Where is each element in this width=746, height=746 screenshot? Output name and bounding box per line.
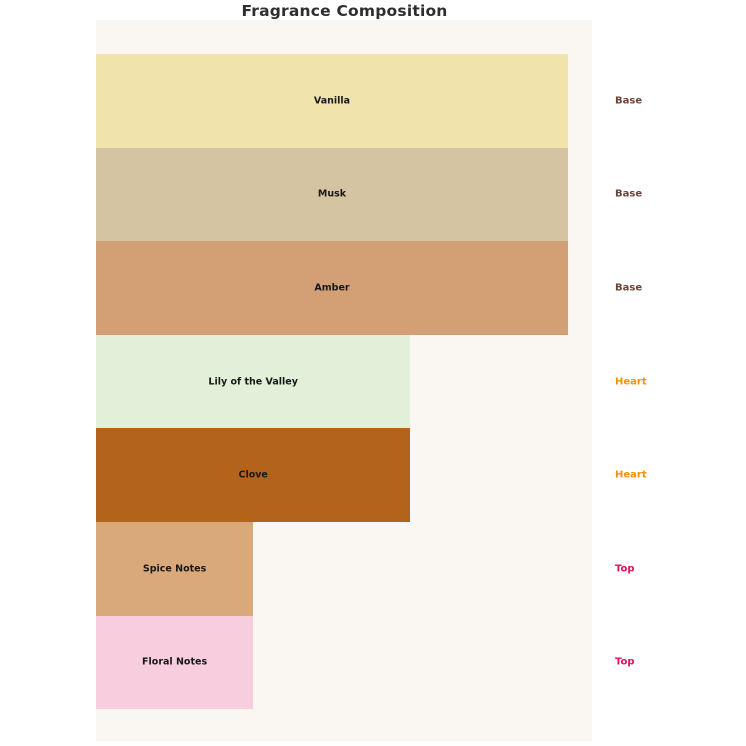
bar-label: Floral Notes <box>96 657 253 668</box>
bar-label: Lily of the Valley <box>96 376 410 387</box>
category-label: Heart <box>615 470 647 481</box>
page-title: Fragrance Composition <box>0 2 689 20</box>
bar-label: Musk <box>96 189 568 200</box>
category-label: Heart <box>615 376 647 387</box>
category-label: Base <box>615 283 642 294</box>
category-label: Base <box>615 189 642 200</box>
category-label: Base <box>615 95 642 106</box>
category-label: Top <box>615 563 635 574</box>
category-label: Top <box>615 657 635 668</box>
bar-label: Amber <box>96 282 568 293</box>
bar-label: Clove <box>96 470 410 481</box>
bar-label: Vanilla <box>96 95 568 106</box>
fragrance-composition-chart: Fragrance Composition VanillaMuskAmberLi… <box>0 0 746 746</box>
bar-label: Spice Notes <box>96 563 253 574</box>
